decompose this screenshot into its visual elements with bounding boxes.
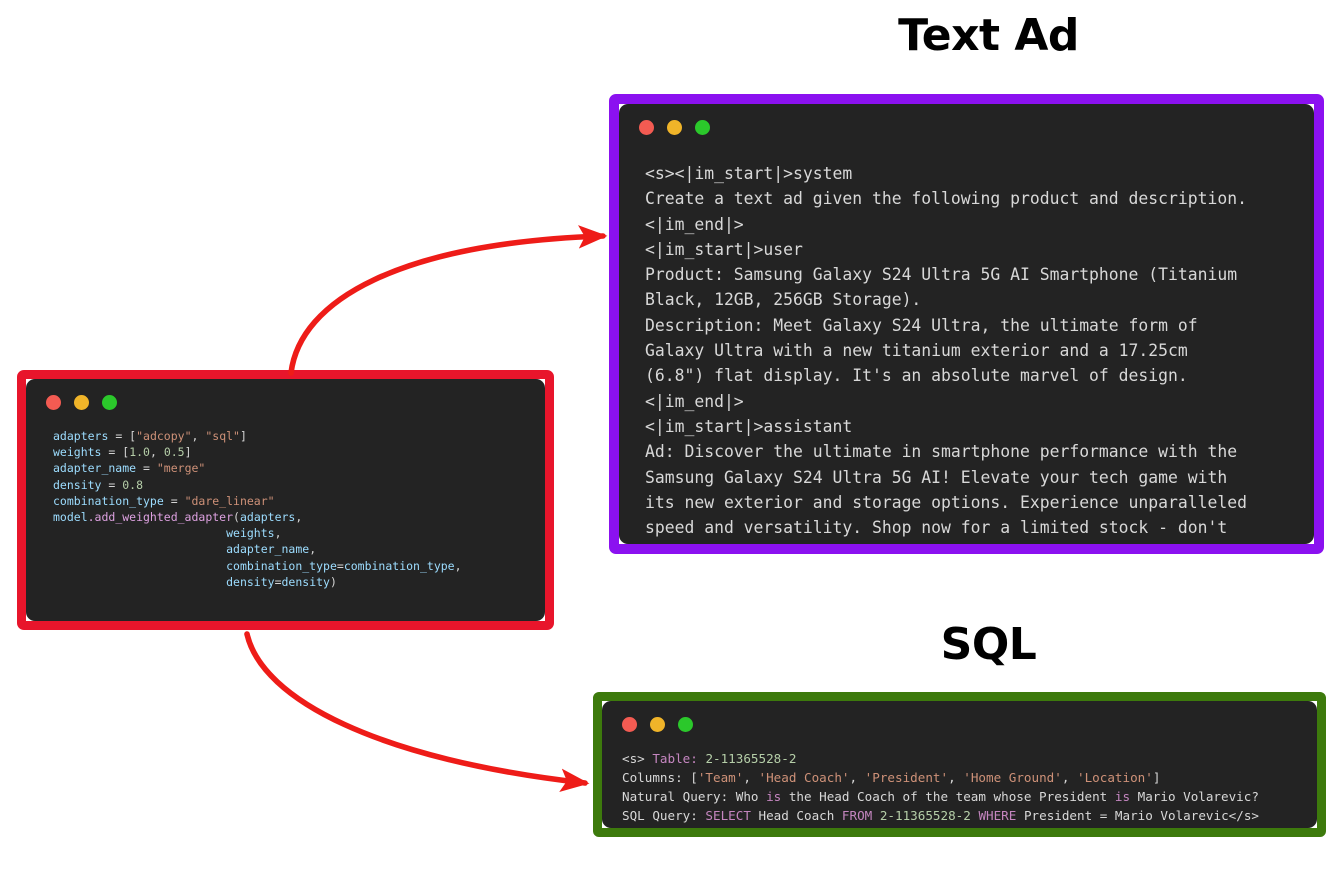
code-line: weights = [1.0, 0.5] [53, 444, 545, 460]
close-icon[interactable] [46, 395, 61, 410]
sql-content: <s> Table: 2-11365528-2Columns: ['Team',… [602, 732, 1317, 825]
close-icon[interactable] [622, 717, 637, 732]
code-token: <s><|im_start|>system [645, 164, 852, 183]
code-line: model.add_weighted_adapter(adapters, [53, 509, 545, 525]
textad-terminal-window: <s><|im_start|>systemCreate a text ad gi… [609, 94, 1324, 554]
code-line: Black, 12GB, 256GB Storage). [645, 287, 1314, 312]
code-line: <s> Table: 2-11365528-2 [622, 749, 1317, 768]
code-token: = [337, 559, 344, 573]
code-token: combination_type [53, 494, 164, 508]
code-token: 0.8 [122, 478, 143, 492]
code-token: (6.8") flat display. It's an absolute ma… [645, 366, 1188, 385]
code-token: adapters [53, 429, 108, 443]
code-token: Natural Query: Who [622, 789, 766, 804]
sql-terminal-body: <s> Table: 2-11365528-2Columns: ['Team',… [602, 701, 1317, 828]
code-line: combination_type = "dare_linear" [53, 493, 545, 509]
code-token: ] [1153, 770, 1161, 785]
code-token: Mario Volarevic? [1130, 789, 1259, 804]
sql-terminal-window: <s> Table: 2-11365528-2Columns: ['Team',… [593, 692, 1326, 837]
code-token: is [766, 789, 781, 804]
close-icon[interactable] [639, 120, 654, 135]
code-token: model [53, 510, 88, 524]
code-token: , [948, 770, 963, 785]
code-token: , [275, 526, 282, 540]
code-token: FROM [842, 808, 872, 823]
code-line: (6.8") flat display. It's an absolute ma… [645, 363, 1314, 388]
code-line: Description: Meet Galaxy S24 Ultra, the … [645, 313, 1314, 338]
code-token: = [108, 429, 129, 443]
code-line: Galaxy Ultra with a new titanium exterio… [645, 338, 1314, 363]
code-token: = [164, 494, 185, 508]
code-token: WHERE [978, 808, 1016, 823]
page-title-text-ad: Text Ad [0, 8, 1327, 64]
code-token: SQL Query: [622, 808, 705, 823]
code-token: = [101, 478, 122, 492]
code-line: density=density) [53, 574, 545, 590]
code-token: Samsung Galaxy S24 Ultra 5G AI! Elevate … [645, 468, 1227, 487]
code-token: "adcopy" [136, 429, 191, 443]
code-token: Black, 12GB, 256GB Storage). [645, 290, 921, 309]
code-token [53, 542, 226, 556]
code-line: adapter_name = "merge" [53, 460, 545, 476]
minimize-icon[interactable] [667, 120, 682, 135]
code-token: ] [185, 445, 192, 459]
code-token: ] [240, 429, 247, 443]
textad-terminal-body: <s><|im_start|>systemCreate a text ad gi… [619, 104, 1314, 544]
code-token: combination_type [344, 559, 455, 573]
code-token: adapter_name [226, 542, 309, 556]
code-token: <s> [622, 751, 652, 766]
code-line: Create a text ad given the following pro… [645, 186, 1314, 211]
code-token: 'Home Ground' [963, 770, 1062, 785]
code-line: weights, [53, 525, 545, 541]
code-line: Ad: Discover the ultimate in smartphone … [645, 439, 1314, 464]
code-line: combination_type=combination_type, [53, 558, 545, 574]
code-token: , [309, 542, 316, 556]
code-token: the Head Coach of the team whose Preside… [781, 789, 1115, 804]
textad-content: <s><|im_start|>systemCreate a text ad gi… [619, 135, 1314, 544]
code-token: combination_type [226, 559, 337, 573]
code-token: density [226, 575, 274, 589]
code-token: "merge" [157, 461, 205, 475]
code-token: Ad: Discover the ultimate in smartphone … [645, 442, 1237, 461]
minimize-icon[interactable] [650, 717, 665, 732]
code-token: 'Team' [698, 770, 744, 785]
code-line: <|im_end|> [645, 389, 1314, 414]
code-token: <|im_start|>user [645, 240, 803, 259]
arrow-code-to-textad [291, 236, 603, 373]
window-controls [602, 701, 1317, 732]
code-token: is [1115, 789, 1130, 804]
maximize-icon[interactable] [678, 717, 693, 732]
code-token: , [455, 559, 462, 573]
code-line: density = 0.8 [53, 477, 545, 493]
code-token: <|im_start|>assistant [645, 417, 852, 436]
code-token: SELECT [705, 808, 751, 823]
minimize-icon[interactable] [74, 395, 89, 410]
code-token: 'President' [865, 770, 948, 785]
code-token [53, 575, 226, 589]
code-token: 'Location' [1077, 770, 1153, 785]
code-token: , [192, 429, 206, 443]
code-token: speed and versatility. Shop now for a li… [645, 518, 1227, 537]
code-line: Columns: ['Team', 'Head Coach', 'Preside… [622, 768, 1317, 787]
code-token: President = Mario Volarevic</s> [1016, 808, 1259, 823]
code-token: Product: Samsung Galaxy S24 Ultra 5G AI … [645, 265, 1237, 284]
code-terminal-window: adapters = ["adcopy", "sql"]weights = [1… [17, 370, 554, 630]
code-token: , [295, 510, 302, 524]
code-line: Samsung Galaxy S24 Ultra 5G AI! Elevate … [645, 465, 1314, 490]
code-token: Galaxy Ultra with a new titanium exterio… [645, 341, 1188, 360]
code-token: density [53, 478, 101, 492]
code-line: <|im_start|>user [645, 237, 1314, 262]
code-content: adapters = ["adcopy", "sql"]weights = [1… [26, 410, 545, 590]
code-line: <|im_start|>assistant [645, 414, 1314, 439]
code-token: its new exterior and storage options. Ex… [645, 493, 1247, 512]
code-token: <|im_end|> [645, 392, 744, 411]
code-line: its new exterior and storage options. Ex… [645, 490, 1314, 515]
code-token: adapter_name [53, 461, 136, 475]
code-token: <|im_end|> [645, 215, 744, 234]
code-token: .add_weighted_adapter [88, 510, 233, 524]
code-line: Natural Query: Who is the Head Coach of … [622, 787, 1317, 806]
maximize-icon[interactable] [695, 120, 710, 135]
code-token: 2-11365528-2 [705, 751, 796, 766]
code-token: 0.5 [164, 445, 185, 459]
code-line: <|im_end|> [645, 212, 1314, 237]
code-token: Description: Meet Galaxy S24 Ultra, the … [645, 316, 1198, 335]
code-terminal-body: adapters = ["adcopy", "sql"]weights = [1… [26, 379, 545, 621]
code-token: "dare_linear" [185, 494, 275, 508]
code-token [53, 559, 226, 573]
code-token: , [850, 770, 865, 785]
code-token: weights [226, 526, 274, 540]
code-token: = [275, 575, 282, 589]
code-line: speed and versatility. Shop now for a li… [645, 515, 1314, 540]
code-line: <s><|im_start|>system [645, 161, 1314, 186]
code-token: , [150, 445, 164, 459]
code-token: 1.0 [129, 445, 150, 459]
code-token: Head Coach [751, 808, 842, 823]
code-token: 'Head Coach' [759, 770, 850, 785]
code-line: adapter_name, [53, 541, 545, 557]
diagram-canvas: Text Ad SQL adapters = ["adcopy", "sql"]… [0, 0, 1327, 869]
maximize-icon[interactable] [102, 395, 117, 410]
code-token: Create a text ad given the following pro… [645, 189, 1247, 208]
window-controls [26, 379, 545, 410]
code-token [872, 808, 880, 823]
code-token: miss out!<|im_end|> [645, 543, 833, 544]
code-token: adapters [240, 510, 295, 524]
code-token: , [743, 770, 758, 785]
code-token: = [101, 445, 122, 459]
code-line: adapters = ["adcopy", "sql"] [53, 428, 545, 444]
code-line: Product: Samsung Galaxy S24 Ultra 5G AI … [645, 262, 1314, 287]
code-token: , [1062, 770, 1077, 785]
code-line: miss out!<|im_end|> [645, 540, 1314, 544]
window-controls [619, 104, 1314, 135]
code-token: density [282, 575, 330, 589]
code-token: Columns: [ [622, 770, 698, 785]
code-token: ( [233, 510, 240, 524]
code-token: weights [53, 445, 101, 459]
code-line: SQL Query: SELECT Head Coach FROM 2-1136… [622, 806, 1317, 825]
code-token [53, 526, 226, 540]
code-token: = [136, 461, 157, 475]
code-token: ) [330, 575, 337, 589]
code-token: 2-11365528-2 [880, 808, 971, 823]
code-token: "sql" [205, 429, 240, 443]
code-token: Table: [652, 751, 698, 766]
